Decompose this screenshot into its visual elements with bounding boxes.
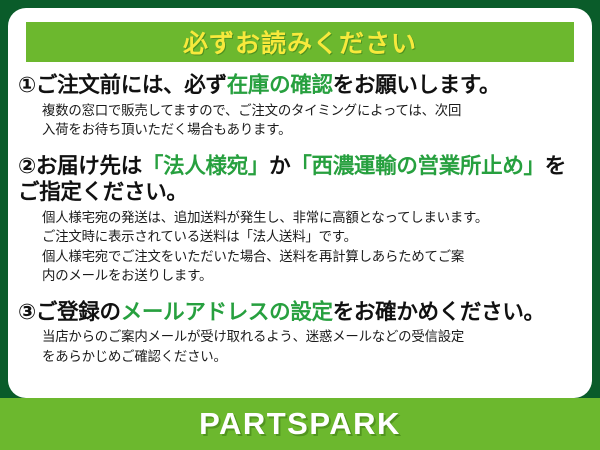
list-item: ①ご注文前には、必ず在庫の確認をお願いします。 複数の窓口で販売してますので、ご… — [8, 72, 592, 140]
item-body: 当店からのご案内メールが受け取れるよう、迷惑メールなどの受信設定をあらかじめご確… — [42, 327, 584, 366]
list-item: ②お届け先は「法人様宛」か「西濃運輸の営業所止め」をご指定ください。 個人様宅宛… — [8, 153, 592, 286]
body-line: 個人様宅宛でご注文をいただいた場合、送料を再計算しあらためてご案 — [42, 247, 584, 266]
item-marker: ③ — [18, 300, 36, 324]
header-bar: 必ずお読みください — [26, 22, 574, 62]
item-body: 複数の窓口で販売してますので、ご注文のタイミングによっては、次回入荷をお待ち頂い… — [42, 101, 584, 140]
body-line: 入荷をお待ち頂いただく場合もあります。 — [42, 120, 584, 139]
brand-logo: PARTSPARK — [199, 406, 401, 442]
item-heading: ①ご注文前には、必ず在庫の確認をお願いします。 — [18, 72, 584, 99]
emphasis-text: 「法人様宛」 — [142, 154, 269, 178]
heading-text: お届け先は — [36, 154, 142, 178]
content-panel: 必ずお読みください ①ご注文前には、必ず在庫の確認をお願いします。 複数の窓口で… — [8, 8, 592, 398]
item-marker: ① — [18, 73, 36, 97]
emphasis-text: メールアドレスの設定 — [121, 300, 333, 324]
item-body: 個人様宅宛の発送は、追加送料が発生し、非常に高額となってしまいます。ご注文時に表… — [42, 208, 584, 286]
heading-text: か — [269, 154, 290, 178]
item-marker: ② — [18, 154, 36, 178]
body-line: 個人様宅宛の発送は、追加送料が発生し、非常に高額となってしまいます。 — [42, 208, 584, 227]
heading-text: ご注文前には、必ず — [36, 73, 227, 97]
heading-text: ご登録の — [36, 300, 121, 324]
notice-list: ①ご注文前には、必ず在庫の確認をお願いします。 複数の窓口で販売してますので、ご… — [8, 68, 592, 366]
body-line: 当店からのご案内メールが受け取れるよう、迷惑メールなどの受信設定 — [42, 327, 584, 346]
emphasis-text: 「西濃運輸の営業所止め」 — [290, 154, 544, 178]
list-item: ③ご登録のメールアドレスの設定をお確かめください。 当店からのご案内メールが受け… — [8, 299, 592, 367]
body-line: 内のメールをお送りします。 — [42, 266, 584, 285]
notice-card: 必ずお読みください ①ご注文前には、必ず在庫の確認をお願いします。 複数の窓口で… — [0, 0, 600, 450]
heading-text: をお願いします。 — [333, 73, 500, 97]
heading-text: をお確かめください。 — [333, 300, 545, 324]
body-line: をあらかじめご確認ください。 — [42, 347, 584, 366]
item-heading: ③ご登録のメールアドレスの設定をお確かめください。 — [18, 299, 584, 326]
body-line: ご注文時に表示されている送料は「法人送料」です。 — [42, 227, 584, 246]
footer-bar: PARTSPARK — [0, 398, 600, 450]
item-heading: ②お届け先は「法人様宛」か「西濃運輸の営業所止め」をご指定ください。 — [18, 153, 584, 206]
emphasis-text: 在庫の確認 — [227, 73, 333, 97]
body-line: 複数の窓口で販売してますので、ご注文のタイミングによっては、次回 — [42, 101, 584, 120]
page-title: 必ずお読みください — [183, 24, 417, 60]
